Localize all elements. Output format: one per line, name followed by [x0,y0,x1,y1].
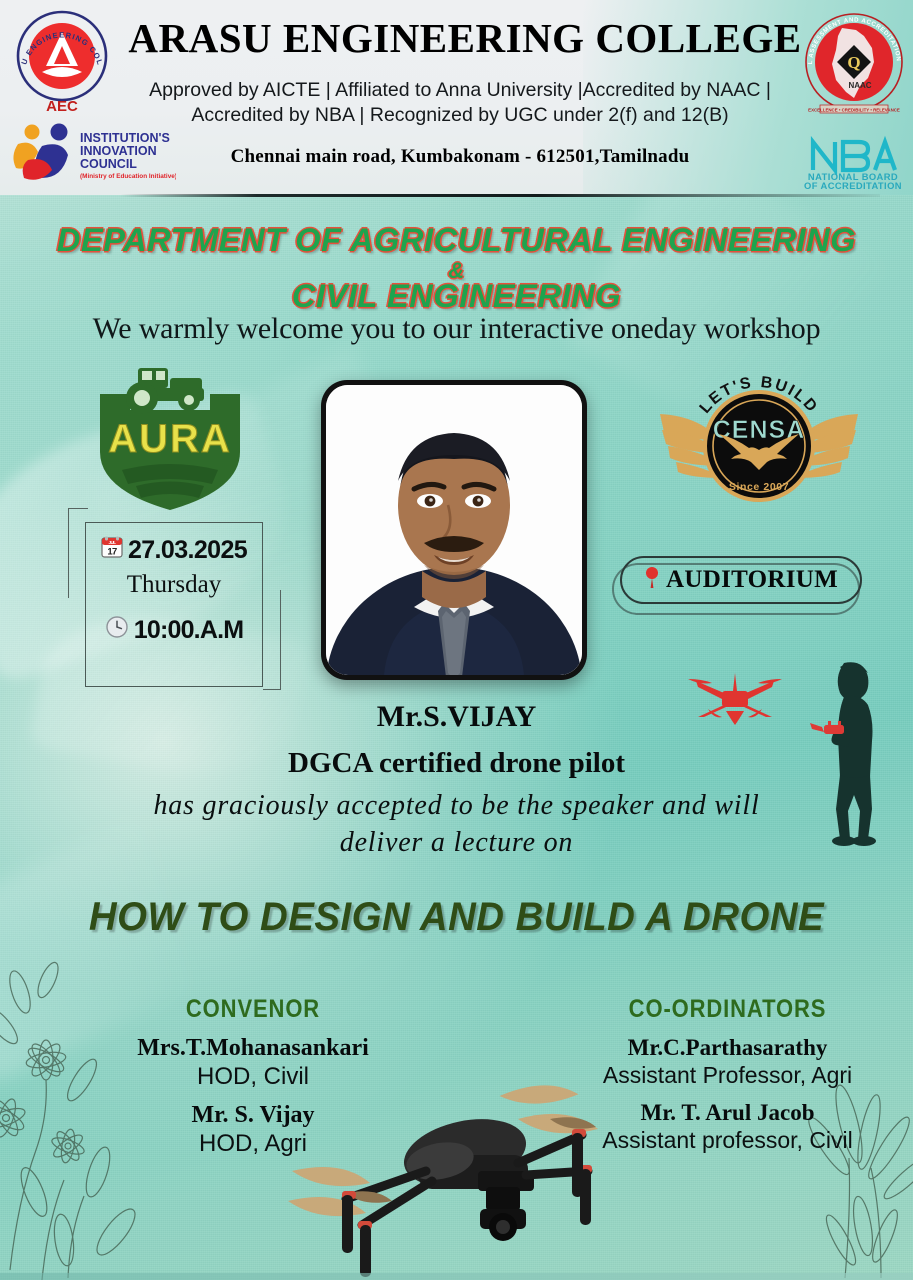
aura-logo: AURA [70,364,270,514]
naac-logo: Q NAAC NATIONAL ASSESSMENT AND ACCREDITA… [802,6,907,118]
svg-text:JUL: JUL [108,540,116,545]
svg-text:EXCELLENCE • CREDIBILITY • REL: EXCELLENCE • CREDIBILITY • RELEVANCE [808,108,900,113]
aec-logo: ARASU ENGINEERING COLLEGE AEC [6,4,118,116]
speaker-intro-line-1: has graciously accepted to be the speake… [0,790,913,822]
date-bracket-right [263,590,281,690]
coordinator-role-2: Assistant professor, Civil [560,1127,895,1154]
event-day: Thursday [86,571,262,599]
accreditation-line-2: Accredited by NBA | Recognized by UGC un… [105,103,815,128]
footer-strip [0,1273,913,1280]
convenor-name-1: Mrs.T.Mohanasankari [88,1035,418,1062]
coordinator-role-1: Assistant Professor, Agri [560,1062,895,1089]
svg-text:AEC: AEC [46,98,78,115]
workshop-topic: HOW TO DESIGN AND BUILD A DRONE [18,895,894,939]
svg-text:AURA: AURA [108,417,232,461]
event-date-row: JUL 17 27.03.2025 [86,536,262,565]
event-date: 27.03.2025 [128,536,247,565]
convenor-heading: CONVENOR [108,995,398,1024]
location-pin-icon [644,566,660,595]
event-time-row: 10:00.A.M [86,615,262,646]
svg-text:NAAC: NAAC [848,81,871,90]
svg-text:Q: Q [847,53,860,72]
coordinators-section: CO-ORDINATORS Mr.C.Parthasarathy Assista… [560,995,895,1154]
nba-logo: NATIONAL BOARD OF ACCREDITATION [801,128,905,190]
speaker-intro-line-2: deliver a lecture on [0,827,913,859]
welcome-text: We warmly welcome you to our interactive… [0,312,913,346]
coordinator-name-1: Mr.C.Parthasarathy [560,1035,895,1061]
svg-text:17: 17 [107,547,117,558]
venue-badge: AUDITORIUM [620,556,862,604]
calendar-icon: JUL 17 [101,536,123,565]
svg-text:OF ACCREDITATION: OF ACCREDITATION [804,180,902,190]
speaker-photo-frame [321,380,587,680]
svg-text:Since 2007: Since 2007 [729,481,789,493]
svg-text:INNOVATION: INNOVATION [80,144,157,158]
convenor-section: CONVENOR Mrs.T.Mohanasankari HOD, Civil … [88,995,418,1158]
speaker-role: DGCA certified drone pilot [0,747,913,780]
drone-pilot-silhouette [800,655,905,855]
event-time: 10:00.A.M [134,616,244,645]
college-address: Chennai main road, Kumbakonam - 612501,T… [105,146,815,168]
department-line-1: DEPARTMENT OF AGRICULTURAL ENGINEERING [0,222,913,259]
venue-label: AUDITORIUM [666,566,838,594]
clock-icon [105,615,129,646]
coordinator-name-2: Mr. T. Arul Jacob [560,1100,895,1126]
accreditation-line-1: Approved by AICTE | Affiliated to Anna U… [105,78,815,103]
page-title: ARASU ENGINEERING COLLEGE [120,14,810,62]
coordinators-heading: CO-ORDINATORS [580,995,875,1024]
iic-logo: INSTITUTION'S INNOVATION COUNCIL (Minist… [6,120,176,182]
svg-text:COUNCIL: COUNCIL [80,157,137,171]
censa-logo: CENSA Since 2007 LET'S BUILD [648,362,870,522]
speaker-photo [326,385,582,675]
accreditation-text: Approved by AICTE | Affiliated to Anna U… [105,78,815,128]
svg-text:(Ministry of Education Initiat: (Ministry of Education Initiative) [80,173,176,180]
department-line-2: CIVIL ENGINEERING [0,278,913,315]
convenor-role-2: HOD, Agri [88,1130,418,1158]
event-poster: ARASU ENGINEERING COLLEGE Approved by AI… [0,0,913,1280]
convenor-name-2: Mr. S. Vijay [88,1102,418,1129]
red-drone-icon [680,665,790,735]
event-date-box: JUL 17 27.03.2025 Thursday 10:00.A.M [85,522,263,687]
header-divider [120,194,880,197]
svg-text:INSTITUTION'S: INSTITUTION'S [80,131,170,145]
convenor-role-1: HOD, Civil [88,1063,418,1091]
